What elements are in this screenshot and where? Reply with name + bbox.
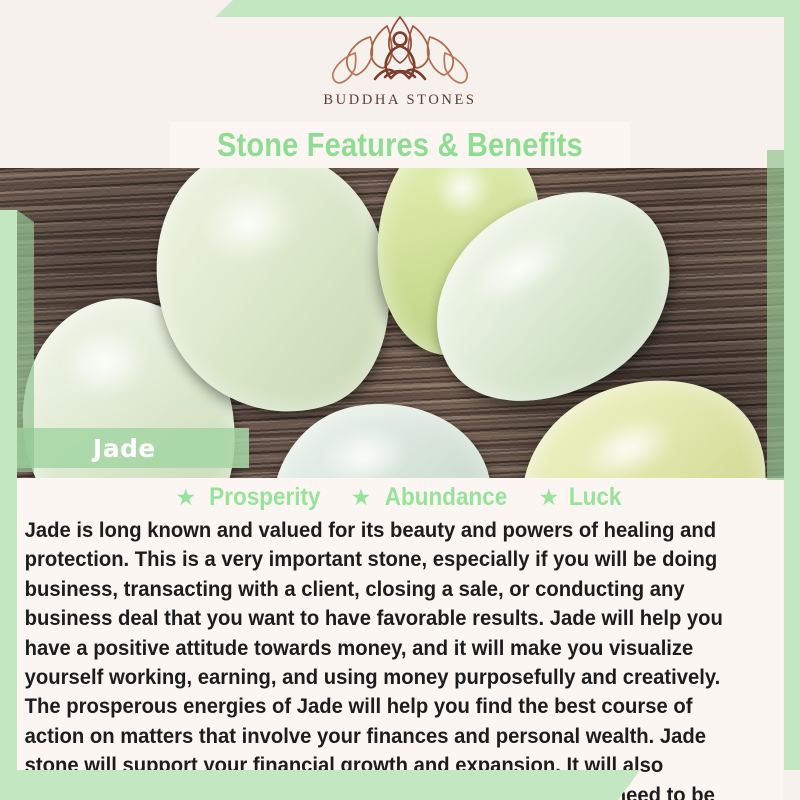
brand-header: BUDDHA STONES — [0, 0, 800, 122]
benefits-row: ★ Prosperity ★ Abundance ★ Luck — [17, 480, 783, 514]
decor-left-inner-green-bar — [17, 210, 34, 472]
benefit-label: Prosperity — [209, 483, 320, 512]
stone-name-label: Jade — [93, 434, 156, 463]
title-banner: Stone Features & Benefits — [170, 122, 630, 168]
content-panel: ★ Prosperity ★ Abundance ★ Luck Jade is … — [17, 478, 783, 800]
benefit-item: ★ Luck — [539, 483, 625, 512]
star-icon: ★ — [539, 486, 560, 509]
lotus-meditation-icon — [325, 13, 475, 87]
star-icon: ★ — [175, 486, 196, 509]
benefit-label: Luck — [569, 483, 622, 512]
stone-description: Jade is long known and valued for its be… — [17, 516, 749, 800]
decor-bottom-green-bar — [0, 770, 640, 800]
benefit-item: ★ Abundance — [351, 483, 515, 512]
decor-right-inner-green-bar — [767, 150, 784, 480]
page-title: Stone Features & Benefits — [217, 126, 583, 164]
benefit-item: ★ Prosperity — [175, 483, 326, 512]
star-icon: ★ — [351, 486, 372, 509]
brand-name: BUDDHA STONES — [323, 92, 476, 109]
stone-name-badge: Jade — [17, 428, 249, 468]
infographic-card: BUDDHA STONES Stone Features & Benefits … — [0, 0, 800, 800]
decor-left-green-bar — [0, 210, 17, 800]
benefit-label: Abundance — [385, 483, 508, 512]
